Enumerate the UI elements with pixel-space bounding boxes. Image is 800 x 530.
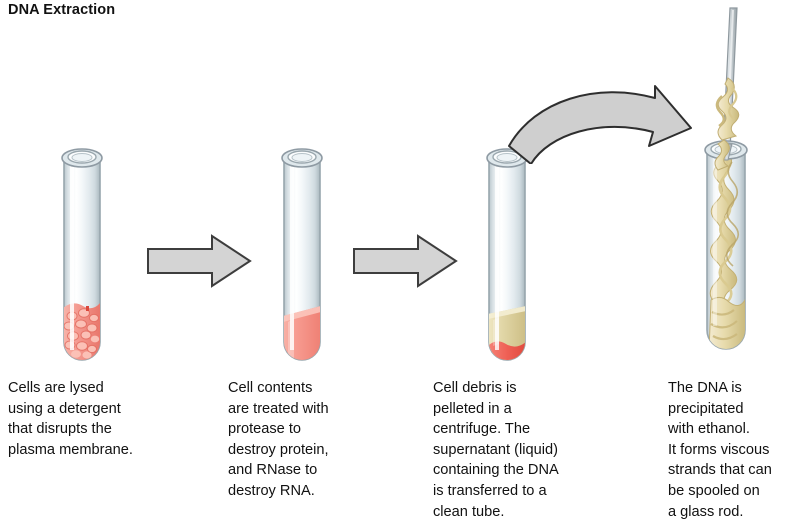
tube-cells-graphic [42, 130, 122, 370]
tube-spooled-dna-graphic [680, 0, 770, 370]
tube-rim [62, 149, 102, 167]
tube-lysate-graphic [262, 130, 342, 370]
tube-cells [42, 130, 122, 370]
tube-centrifuged [467, 130, 547, 370]
tube-centrifuged-contents [488, 306, 526, 362]
tube-rim [282, 149, 322, 167]
step-4-caption: The DNA is precipitated with ethanol. It… [668, 378, 800, 522]
tube-lysate [262, 130, 342, 370]
tube-spooled-dna [680, 0, 760, 370]
process-step-4: The DNA is precipitated with ethanol. It… [660, 0, 800, 530]
process-step-3: Cell debris is pelleted in a centrifuge.… [425, 0, 625, 530]
tube-cells-contents [63, 302, 101, 362]
step-1-caption: Cells are lysed using a detergent that d… [8, 378, 198, 460]
dna-strands-above-rim [717, 78, 739, 140]
step-2-caption: Cell contents are treated with protease … [228, 378, 418, 502]
step-3-caption: Cell debris is pelleted in a centrifuge.… [433, 378, 623, 522]
tube-centrifuged-graphic [467, 130, 547, 370]
